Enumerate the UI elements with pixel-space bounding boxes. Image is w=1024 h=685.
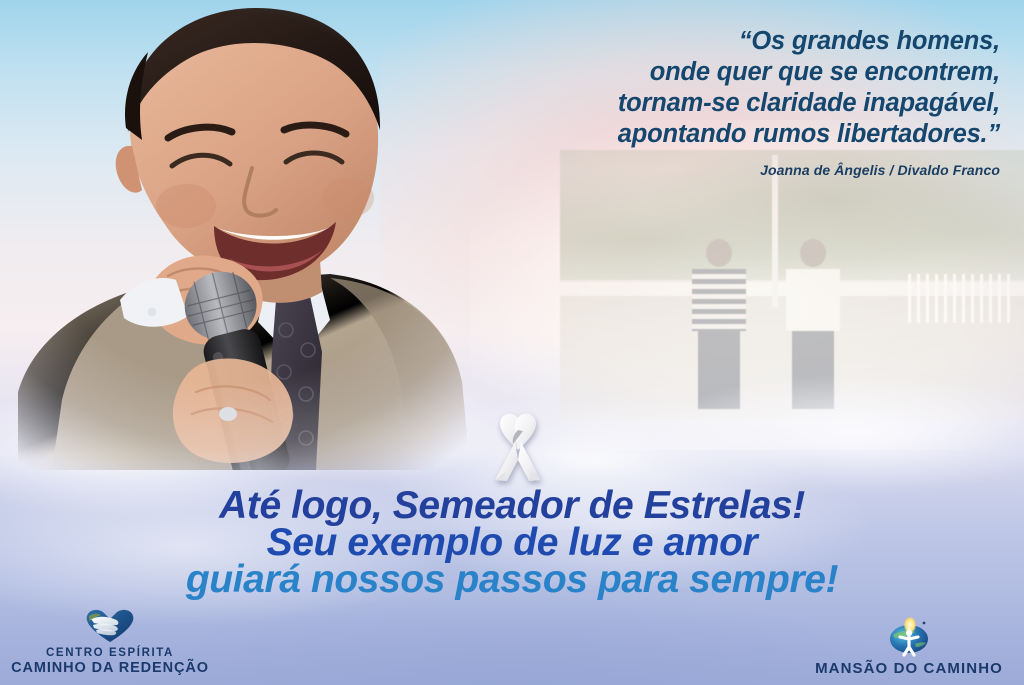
quote-line-1: “Os grandes homens, (480, 26, 1000, 57)
mourning-ribbon-icon (487, 408, 549, 486)
quote-attribution: Joanna de Ângelis / Divaldo Franco (480, 162, 1000, 178)
quote-line-4: apontando rumos libertadores.” (480, 119, 1000, 150)
headline-line-2: Seu exemplo de luz e amor (0, 524, 1024, 561)
quote-line-2: onde quer que se encontrem, (480, 57, 1000, 88)
headline-line-1: Até logo, Semeador de Estrelas! (0, 487, 1024, 524)
quote-block: “Os grandes homens, onde quer que se enc… (480, 26, 1000, 178)
headline-block: Até logo, Semeador de Estrelas! Seu exem… (0, 487, 1024, 598)
headline-line-3: guiará nossos passos para sempre! (0, 561, 1024, 598)
logo-right-line-2: MANSÃO DO CAMINHO (815, 660, 1003, 677)
quote-line-3: tornam-se claridade inapagável, (480, 88, 1000, 119)
photo-fence (908, 274, 1011, 323)
logo-left-line-1: CENTRO ESPÍRITA (11, 646, 209, 660)
logo-centro-espirita-caminho-da-redencao: CENTRO ESPÍRITA CAMINHO DA REDENÇÃO (10, 607, 210, 677)
photo-pole (772, 155, 778, 306)
logo-right-text: MANSÃO DO CAMINHO (815, 660, 1003, 677)
logo-left-text: CENTRO ESPÍRITA CAMINHO DA REDENÇÃO (11, 646, 209, 677)
logo-left-line-2: CAMINHO DA REDENÇÃO (11, 660, 209, 677)
portrait-photo (0, 0, 500, 470)
memorial-poster: “Os grandes homens, onde quer que se enc… (0, 0, 1024, 685)
globe-figure-icon (887, 617, 931, 657)
heart-hands-icon (84, 607, 136, 643)
logo-mansao-do-caminho: MANSÃO DO CAMINHO (804, 617, 1014, 677)
